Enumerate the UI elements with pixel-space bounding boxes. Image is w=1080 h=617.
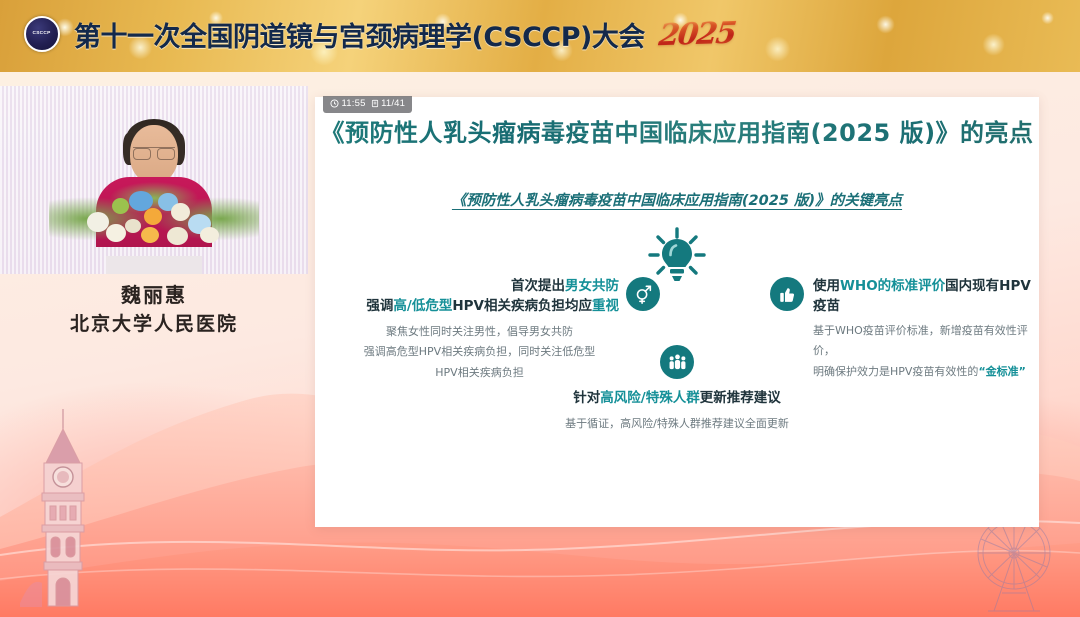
page-number: 11/41 xyxy=(381,99,405,109)
page-counter: 11/41 xyxy=(371,99,406,109)
clock-time: 11:55 xyxy=(330,99,366,109)
bottom-body: 基于循证，高风险/特殊人群推荐建议全面更新 xyxy=(527,414,827,434)
speaker-glasses xyxy=(133,147,175,158)
presentation-slide[interactable]: 《预防性人乳头瘤病毒疫苗中国临床应用指南(2025 版)》的亮点 《预防性人乳头… xyxy=(315,97,1039,527)
elapsed-time: 11:55 xyxy=(342,99,366,109)
speaker-organization: 北京大学人民医院 xyxy=(0,310,308,339)
right-body-line-2: 明确保护效力是HPV疫苗有效性的“金标准” xyxy=(813,362,1035,382)
speaker-video-feed[interactable] xyxy=(0,86,308,274)
conference-title: 第十一次全国阴道镜与宫颈病理学(CSCCP)大会 xyxy=(74,15,645,54)
speaker-info: 魏丽惠 北京大学人民医院 xyxy=(0,280,308,339)
left-heading-line1: 首次提出男女共防 xyxy=(366,277,619,297)
csccp-logo-icon: CSCCP xyxy=(24,16,60,52)
people-group-icon xyxy=(660,345,694,379)
flower-bouquet xyxy=(49,174,259,260)
speaker-name: 魏丽惠 xyxy=(0,280,308,310)
right-body-line-1: 基于WHO疫苗评价标准，新增疫苗有效性评价， xyxy=(813,321,1035,362)
clock-icon xyxy=(330,99,339,108)
page-icon xyxy=(371,99,379,108)
thumbs-up-icon xyxy=(770,277,804,311)
slide-title: 《预防性人乳头瘤病毒疫苗中国临床应用指南(2025 版)》的亮点 xyxy=(315,113,1039,148)
screen-root: CSCCP 第十一次全国阴道镜与宫颈病理学(CSCCP)大会 2025 xyxy=(0,0,1080,617)
left-heading-line2: 强调高/低危型HPV相关疾病负担均应重视 xyxy=(366,297,619,317)
playback-status-badge: 11:55 11/41 xyxy=(323,96,412,113)
bottom-heading: 针对高风险/特殊人群更新推荐建议 xyxy=(527,389,827,409)
year-logo: 2025 xyxy=(657,15,737,53)
bottom-body-line-1: 基于循证，高风险/特殊人群推荐建议全面更新 xyxy=(527,414,827,434)
right-heading: 使用WHO的标准评价国内现有HPV疫苗 xyxy=(813,277,1035,316)
right-body-highlight: “金标准” xyxy=(978,365,1025,378)
left-heading-texts: 首次提出男女共防 强调高/低危型HPV相关疾病负担均应重视 xyxy=(366,277,619,316)
csccp-logo-text: CSCCP xyxy=(33,31,51,36)
slide-subtitle: 《预防性人乳头瘤病毒疫苗中国临床应用指南(2025 版)》的关键亮点 xyxy=(315,189,1039,210)
clock-tower-illustration xyxy=(18,407,108,607)
gender-symbols-icon xyxy=(626,277,660,311)
left-heading-row: 首次提出男女共防 强调高/低危型HPV相关疾病负担均应重视 xyxy=(325,277,660,316)
conference-header: CSCCP 第十一次全国阴道镜与宫颈病理学(CSCCP)大会 2025 xyxy=(0,0,740,68)
right-heading-row: 使用WHO的标准评价国内现有HPV疫苗 xyxy=(770,277,1035,316)
left-body-line-1: 聚焦女性同时关注男性，倡导男女共防 xyxy=(325,322,634,342)
speaker-figure xyxy=(39,99,269,274)
highlight-block-bottom: 针对高风险/特殊人群更新推荐建议 基于循证，高风险/特殊人群推荐建议全面更新 xyxy=(527,345,827,434)
